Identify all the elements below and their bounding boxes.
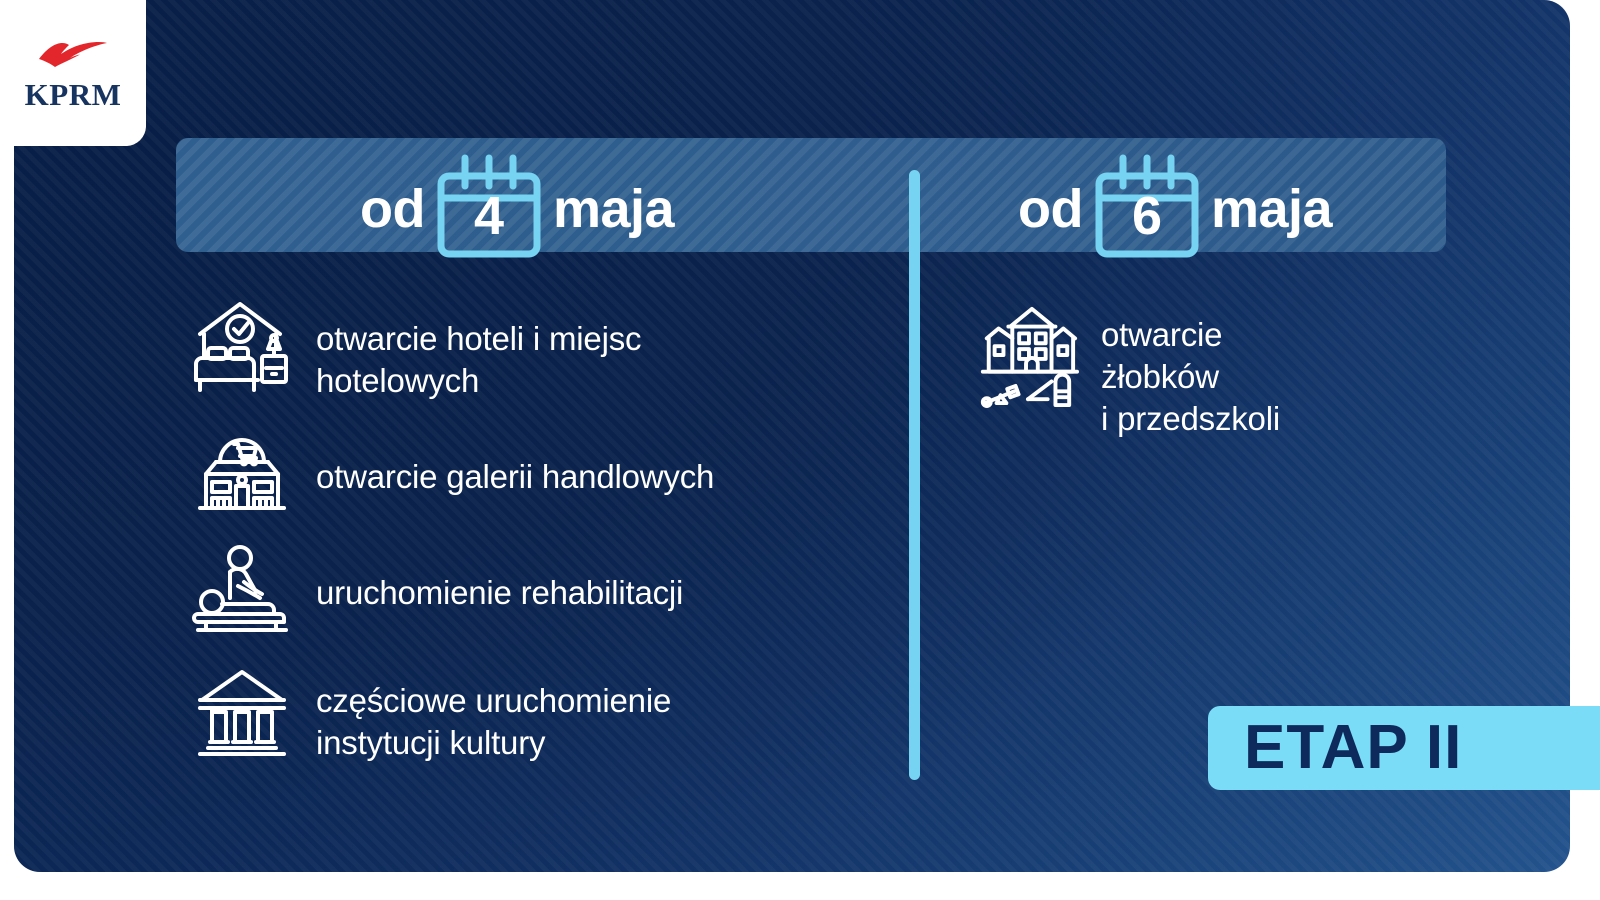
- list-item-label: częściowe uruchomienie instytucji kultur…: [294, 666, 671, 764]
- list-item: otwarcie galerii handlowych: [190, 424, 890, 516]
- list-item: otwarcie żłobków i przedszkoli: [975, 296, 1495, 440]
- date-group-left: od 4 maja: [360, 150, 674, 268]
- infographic-stage: KPRM od 4 maja od: [0, 0, 1600, 900]
- column-divider: [909, 170, 920, 780]
- stage-badge-label: ETAP II: [1208, 717, 1462, 779]
- list-item-label: uruchomienie rehabilitacji: [294, 542, 683, 614]
- calendar-day-number: 4: [474, 189, 504, 243]
- kprm-logo-plate: KPRM: [0, 0, 146, 146]
- polish-flag-wave-icon: [36, 36, 110, 75]
- museum-columns-icon: [190, 666, 294, 758]
- massage-therapy-icon: [190, 542, 294, 634]
- date-suffix: maja: [553, 164, 674, 254]
- shopping-mall-icon: [190, 424, 294, 516]
- date-prefix: od: [1018, 164, 1083, 254]
- date-suffix: maja: [1211, 164, 1332, 254]
- list-item: częściowe uruchomienie instytucji kultur…: [190, 666, 890, 764]
- right-column-list: otwarcie żłobków i przedszkoli: [975, 296, 1495, 468]
- list-item-label: otwarcie hoteli i miejsc hotelowych: [294, 296, 641, 402]
- calendar-icon: 6: [1085, 150, 1209, 268]
- list-item-label: otwarcie galerii handlowych: [294, 424, 714, 498]
- date-prefix: od: [360, 164, 425, 254]
- date-group-right: od 6 maja: [1018, 150, 1332, 268]
- left-column-list: otwarcie hoteli i miejsc hotelowych: [190, 296, 890, 792]
- list-item: uruchomienie rehabilitacji: [190, 542, 890, 634]
- list-item: otwarcie hoteli i miejsc hotelowych: [190, 296, 890, 402]
- calendar-day-number: 6: [1132, 189, 1162, 243]
- list-item-label: otwarcie żłobków i przedszkoli: [1079, 296, 1280, 440]
- stage-badge: ETAP II: [1208, 706, 1600, 790]
- calendar-icon: 4: [427, 150, 551, 268]
- hotel-bed-icon: [190, 296, 294, 396]
- kprm-wordmark: KPRM: [25, 79, 122, 110]
- kindergarten-playground-icon: [975, 296, 1079, 414]
